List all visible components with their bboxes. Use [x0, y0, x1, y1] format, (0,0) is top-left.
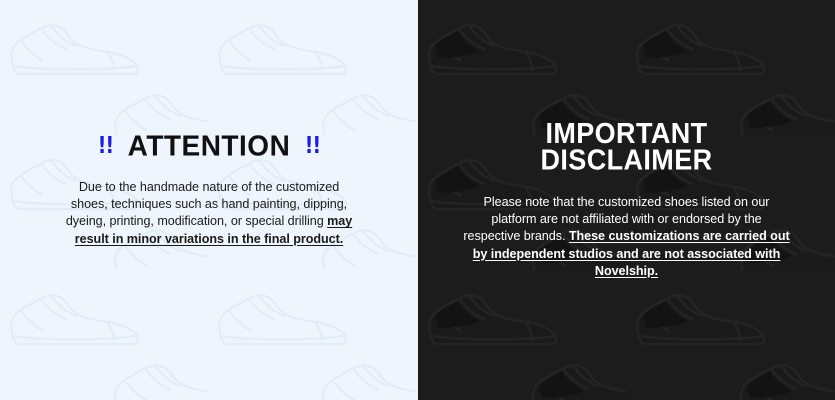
exclamation-right-icon: !!	[305, 135, 321, 158]
customization-disclaimer-banner: !! ATTENTION !! Due to the handmade natu…	[0, 0, 835, 400]
attention-body-plain: Due to the handmade nature of the custom…	[66, 180, 347, 228]
attention-body: Due to the handmade nature of the custom…	[59, 179, 359, 248]
attention-heading: !! ATTENTION !!	[96, 132, 323, 160]
disclaimer-title-line2: DISCLAIMER	[541, 147, 713, 174]
attention-title: ATTENTION	[128, 131, 291, 160]
exclamation-left-icon: !!	[97, 135, 113, 158]
attention-panel: !! ATTENTION !! Due to the handmade natu…	[0, 0, 418, 400]
disclaimer-panel: IMPORTANTDISCLAIMER Please note that the…	[418, 0, 835, 400]
disclaimer-title: IMPORTANTDISCLAIMER	[541, 121, 713, 174]
disclaimer-body: Please note that the customized shoes li…	[462, 194, 792, 280]
